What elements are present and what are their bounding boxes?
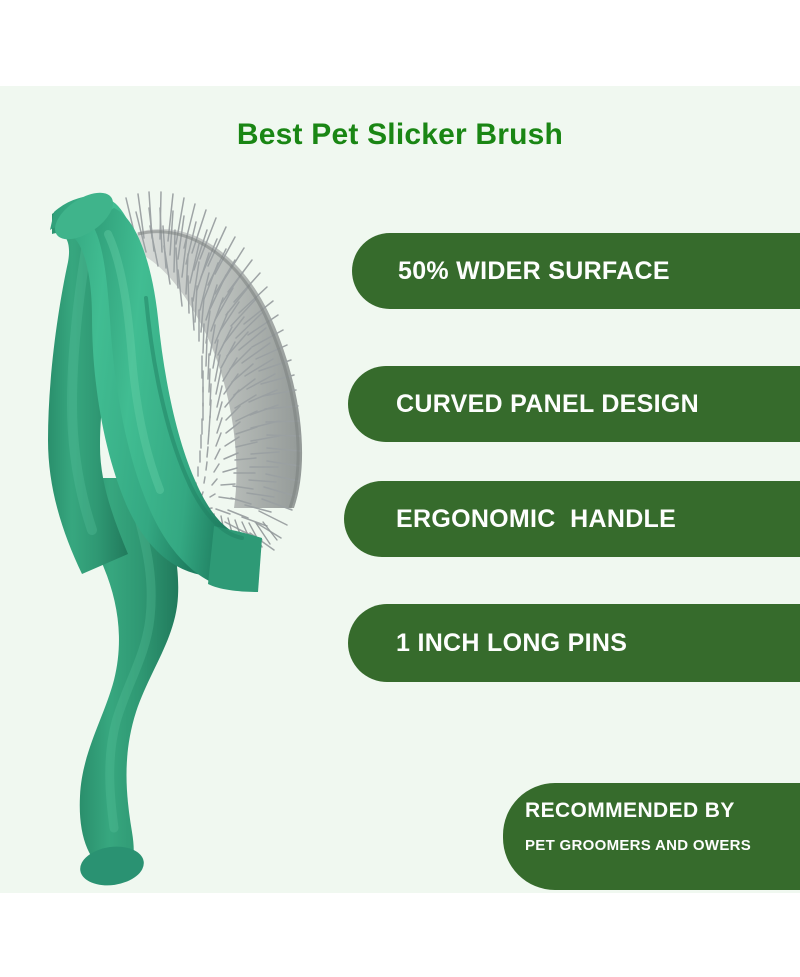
recommendation-primary-text: RECOMMENDED BY — [525, 799, 800, 823]
feature-pill-wider-surface[interactable]: 50% WIDER SURFACE — [352, 233, 800, 309]
feature-pill-label: CURVED PANEL DESIGN — [396, 390, 699, 419]
recommendation-secondary-text: PET GROOMERS AND OWERS — [525, 837, 800, 854]
feature-pill-ergonomic-handle[interactable]: ERGONOMIC HANDLE — [344, 481, 800, 557]
recommendation-badge: RECOMMENDED BY PET GROOMERS AND OWERS — [503, 783, 800, 890]
infographic-canvas: Best Pet Slicker Brush — [0, 0, 800, 977]
feature-pill-curved-panel[interactable]: CURVED PANEL DESIGN — [348, 366, 800, 442]
feature-pill-label: 50% WIDER SURFACE — [398, 257, 670, 286]
product-image-slicker-brush — [18, 178, 338, 890]
feature-pill-long-pins[interactable]: 1 INCH LONG PINS — [348, 604, 800, 682]
feature-pill-label: 1 INCH LONG PINS — [396, 629, 627, 658]
page-title: Best Pet Slicker Brush — [0, 118, 800, 152]
feature-pill-label: ERGONOMIC HANDLE — [396, 505, 676, 534]
